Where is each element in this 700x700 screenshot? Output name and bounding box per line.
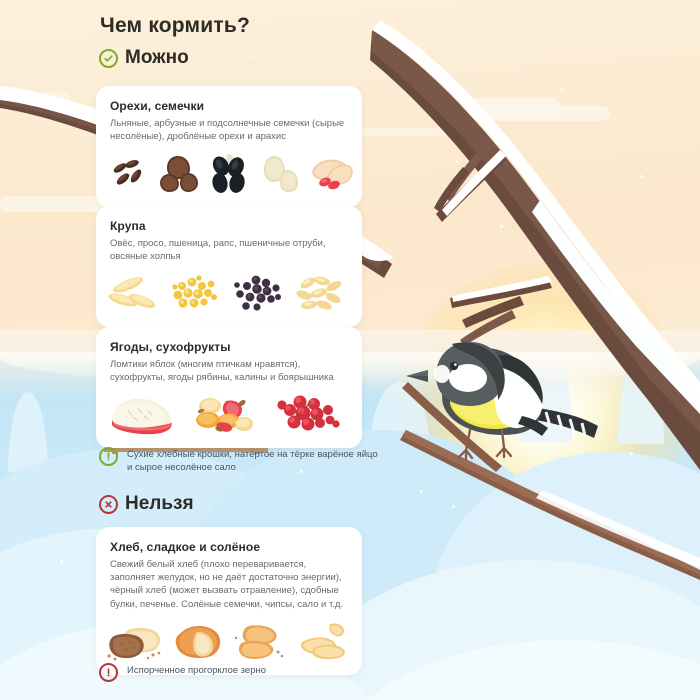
note-text: Сухие хлебные крошки, натёртое на тёрке … [127,447,379,474]
exclamation-circle-green-icon [99,447,118,466]
snowflake-icon [500,225,503,228]
section-label-allowed: Можно [125,47,189,69]
millet-grains-icon [168,272,230,314]
section-header-allowed: Можно [99,47,189,69]
rapeseed-icon [230,272,292,314]
bread-slices-icon [106,620,168,662]
card-berries-dried-fruits: Ягоды, сухофрукты Ломтики яблок (многим … [96,327,362,448]
card-bread-sweet-salty: Хлеб, сладкое и солёное Свежий белый хле… [96,527,362,675]
content-column: Чем кормить? Можно Орехи, семечки Льняны… [0,0,380,700]
card-nuts-seeds: Орехи, семечки Льняные, арбузные и подсо… [96,86,362,207]
section-header-forbidden: Нельзя [99,493,194,515]
x-circle-icon [99,495,118,514]
snowflake-icon [560,88,563,91]
rowan-berries-icon [270,393,352,435]
bread-loaf-icon [168,620,230,662]
crushed-nuts-icon [156,152,206,194]
dried-fruits-icon [188,393,270,435]
great-tit-bird-icon [398,330,700,580]
card-description: Свежий белый хлеб (плохо переваривается,… [96,554,362,611]
card-description: Ломтики яблок (многим птичкам нравятся),… [96,354,362,384]
wheat-grains-icon [292,272,354,314]
card-icon-row [96,384,362,448]
card-grains: Крупа Овёс, просо, пшеница, рапс, пшенич… [96,206,362,327]
infographic-canvas: Чем кормить? Можно Орехи, семечки Льняны… [0,0,700,700]
flax-seeds-icon [106,152,156,194]
card-title: Орехи, семечки [96,86,362,113]
watermelon-seeds-icon [256,152,306,194]
chips-icon [292,620,354,662]
peanuts-icon [306,152,356,194]
card-icon-row [96,263,362,327]
card-description: Овёс, просо, пшеница, рапс, пшеничные от… [96,233,362,263]
card-description: Льняные, арбузные и подсолнечные семечки… [96,113,362,143]
check-circle-icon [99,49,118,68]
card-icon-row [96,143,362,207]
pastry-icon [230,620,292,662]
note-allowed-extra: Сухие хлебные крошки, натёртое на тёрке … [99,447,379,474]
note-text: Испорченное прогорклое зерно [127,663,266,677]
sunflower-seeds-icon [206,152,256,194]
apple-slices-icon [106,393,188,435]
card-title: Ягоды, сухофрукты [96,327,362,354]
exclamation-circle-red-icon [99,663,118,682]
oat-grains-icon [106,272,168,314]
page-title: Чем кормить? [100,14,250,38]
card-title: Хлеб, сладкое и солёное [96,527,362,554]
card-title: Крупа [96,206,362,233]
snowflake-icon [640,175,643,178]
snowflake-icon [455,160,458,163]
note-forbidden-extra: Испорченное прогорклое зерно [99,663,379,682]
cloud-icon [468,98,560,116]
section-label-forbidden: Нельзя [125,493,194,515]
